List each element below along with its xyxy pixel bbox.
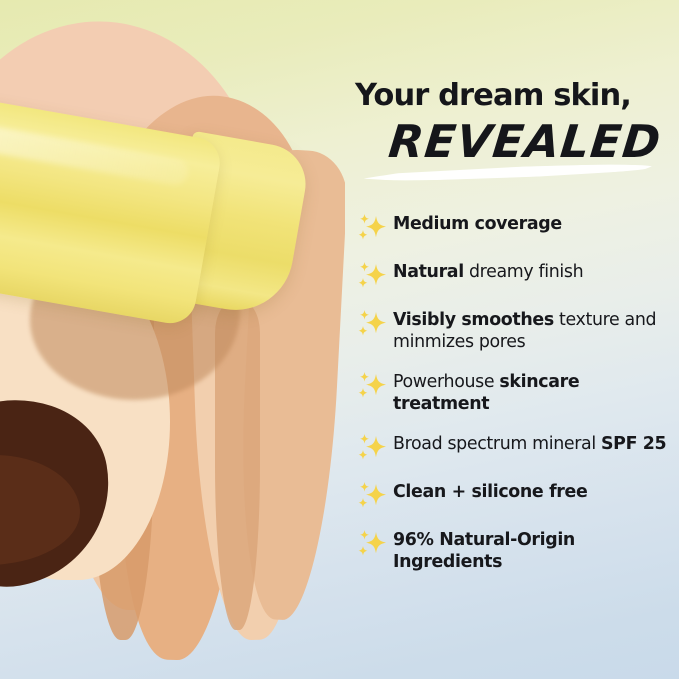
feature-text: Broad spectrum mineral SPF 25: [393, 432, 666, 455]
feature-list: Medium coverageNatural dreamy finishVisi…: [355, 212, 679, 590]
sparkle-icon: [355, 433, 393, 463]
sparkle-icon: [355, 309, 393, 339]
sparkle-icon: [355, 309, 393, 339]
feature-item: Powerhouse skincare treatment: [355, 370, 679, 415]
feature-text: 96% Natural-Origin Ingredients: [393, 528, 679, 573]
feature-item: Clean + silicone free: [355, 480, 679, 511]
sparkle-icon: [355, 261, 393, 291]
feature-text: Powerhouse skincare treatment: [393, 370, 679, 415]
sparkle-icon: [355, 213, 393, 243]
feature-item: Broad spectrum mineral SPF 25: [355, 432, 679, 463]
headline-line-2-wrap: REVEALED: [355, 111, 679, 173]
marketing-copy: Your dream skin, REVEALED Medium coverag…: [352, 0, 679, 679]
headline: Your dream skin, REVEALED: [355, 78, 679, 173]
product-artwork: [0, 0, 345, 679]
sparkle-icon: [355, 433, 393, 463]
feature-item: Visibly smoothes texture and minmizes po…: [355, 308, 679, 353]
sparkle-icon: [355, 481, 393, 511]
sparkle-icon: [355, 213, 393, 243]
sparkle-icon: [355, 371, 393, 401]
feature-text: Clean + silicone free: [393, 480, 587, 503]
feature-text: Visibly smoothes texture and minmizes po…: [393, 308, 679, 353]
product-marketing-image: Your dream skin, REVEALED Medium coverag…: [0, 0, 679, 679]
feature-item: 96% Natural-Origin Ingredients: [355, 528, 679, 573]
headline-line-2: REVEALED: [386, 115, 664, 168]
sparkle-icon: [355, 261, 393, 291]
sparkle-icon: [355, 481, 393, 511]
feature-text: Natural dreamy finish: [393, 260, 583, 283]
sparkle-icon: [355, 371, 393, 401]
feature-item: Natural dreamy finish: [355, 260, 679, 291]
feature-item: Medium coverage: [355, 212, 679, 243]
headline-line-1: Your dream skin,: [355, 78, 679, 113]
feature-text: Medium coverage: [393, 212, 562, 235]
sparkle-icon: [355, 529, 393, 559]
sparkle-icon: [355, 529, 393, 559]
